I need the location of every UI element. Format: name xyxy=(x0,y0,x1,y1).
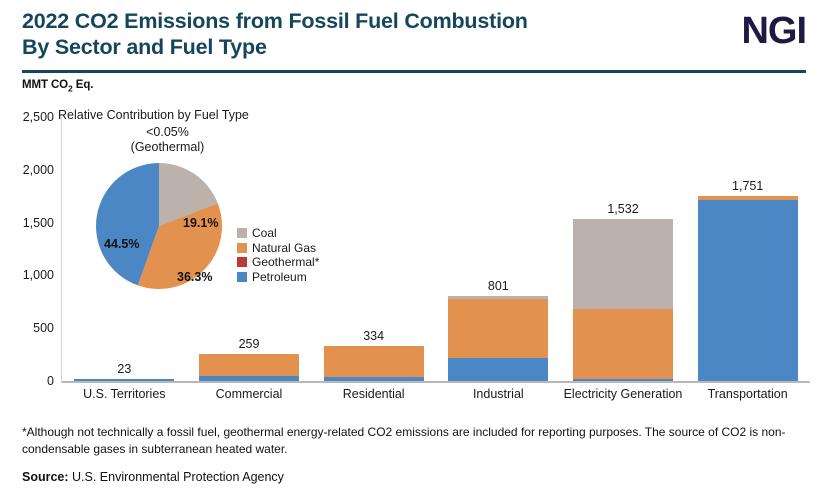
title-line-2: By Sector and Fuel Type xyxy=(22,34,642,60)
pie-note-line-1: <0.05% xyxy=(95,125,240,140)
legend-label: Petroleum xyxy=(252,270,307,284)
segment-natural-gas xyxy=(698,196,798,200)
unit-main: MMT CO xyxy=(22,79,68,91)
legend-item-natural-gas: Natural Gas xyxy=(237,241,319,256)
bar-value-label: 1,751 xyxy=(732,179,763,193)
bar-commercial[interactable]: 259 xyxy=(199,354,299,381)
legend-label: Geothermal* xyxy=(252,255,319,269)
x-axis-line xyxy=(62,381,810,383)
chart-page: 2022 CO2 Emissions from Fossil Fuel Comb… xyxy=(0,0,828,495)
legend-label: Coal xyxy=(252,226,277,240)
ngi-logo: NGI xyxy=(741,10,806,52)
segment-natural-gas xyxy=(573,309,673,379)
pie-geothermal-annotation: <0.05% (Geothermal) xyxy=(95,125,240,155)
segment-natural-gas xyxy=(199,354,299,377)
page-title: 2022 CO2 Emissions from Fossil Fuel Comb… xyxy=(22,8,642,60)
legend-item-petroleum: Petroleum xyxy=(237,270,319,285)
segment-petroleum xyxy=(698,200,798,381)
pie-note-line-2: (Geothermal) xyxy=(95,140,240,155)
y-axis-tick-labels: 05001,0001,5002,0002,500 xyxy=(0,104,56,404)
legend-swatch-icon xyxy=(237,272,247,282)
y-axis-unit-label: MMT CO2 Eq. xyxy=(22,79,93,93)
pie-legend: CoalNatural GasGeothermal*Petroleum xyxy=(237,226,319,284)
bar-residential[interactable]: 334 xyxy=(324,346,424,381)
source-line: Source: U.S. Environmental Protection Ag… xyxy=(22,470,284,484)
pie-label-petroleum: 44.5% xyxy=(104,237,139,251)
y-tick-0: 0 xyxy=(0,374,54,388)
category-label-residential: Residential xyxy=(311,387,436,401)
category-label-electricity-generation: Electricity Generation xyxy=(561,387,686,401)
pie-title: Relative Contribution by Fuel Type xyxy=(58,108,249,122)
segment-petroleum xyxy=(74,379,174,381)
legend-item-geothermal-: Geothermal* xyxy=(237,255,319,270)
category-label-transportation: Transportation xyxy=(685,387,810,401)
title-line-1: 2022 CO2 Emissions from Fossil Fuel Comb… xyxy=(22,8,642,34)
segment-petroleum xyxy=(448,358,548,381)
legend-swatch-icon xyxy=(237,228,247,238)
segment-coal xyxy=(573,219,673,309)
bar-transportation[interactable]: 1,751 xyxy=(698,196,798,381)
footnote-text: *Although not technically a fossil fuel,… xyxy=(22,424,812,458)
segment-petroleum xyxy=(573,379,673,381)
bar-value-label: 801 xyxy=(488,279,509,293)
legend-swatch-icon xyxy=(237,243,247,253)
y-tick-1000: 1,000 xyxy=(0,268,54,282)
bar-value-label: 334 xyxy=(363,329,384,343)
bar-value-label: 259 xyxy=(239,337,260,351)
segment-natural-gas xyxy=(448,299,548,359)
source-label: Source: xyxy=(22,470,69,484)
pie-inset: Relative Contribution by Fuel Type <0.05… xyxy=(55,104,355,304)
y-tick-2500: 2,500 xyxy=(0,110,54,124)
legend-label: Natural Gas xyxy=(252,241,316,255)
bar-industrial[interactable]: 801 xyxy=(448,296,548,381)
y-tick-1500: 1,500 xyxy=(0,216,54,230)
pie-label-coal: 19.1% xyxy=(183,216,218,230)
segment-natural-gas xyxy=(324,346,424,378)
pie-label-natural-gas: 36.3% xyxy=(177,270,212,284)
y-tick-2000: 2,000 xyxy=(0,163,54,177)
category-label-industrial: Industrial xyxy=(436,387,561,401)
bar-electricity-generation[interactable]: 1,532 xyxy=(573,219,673,381)
legend-item-coal: Coal xyxy=(237,226,319,241)
y-tick-500: 500 xyxy=(0,321,54,335)
segment-coal xyxy=(448,296,548,298)
unit-tail: Eq. xyxy=(73,79,94,91)
segment-petroleum xyxy=(199,376,299,381)
legend-swatch-icon xyxy=(237,257,247,267)
header-divider xyxy=(22,70,806,73)
category-label-commercial: Commercial xyxy=(187,387,312,401)
segment-petroleum xyxy=(324,377,424,381)
bar-value-label: 23 xyxy=(117,362,131,376)
bar-value-label: 1,532 xyxy=(607,202,638,216)
page-header: 2022 CO2 Emissions from Fossil Fuel Comb… xyxy=(0,0,828,70)
category-label-u-s-territories: U.S. Territories xyxy=(62,387,187,401)
source-value: U.S. Environmental Protection Agency xyxy=(69,470,284,484)
bar-u-s-territories[interactable]: 23 xyxy=(74,379,174,381)
chart-canvas: 05001,0001,5002,0002,500 232593348011,53… xyxy=(0,104,828,404)
